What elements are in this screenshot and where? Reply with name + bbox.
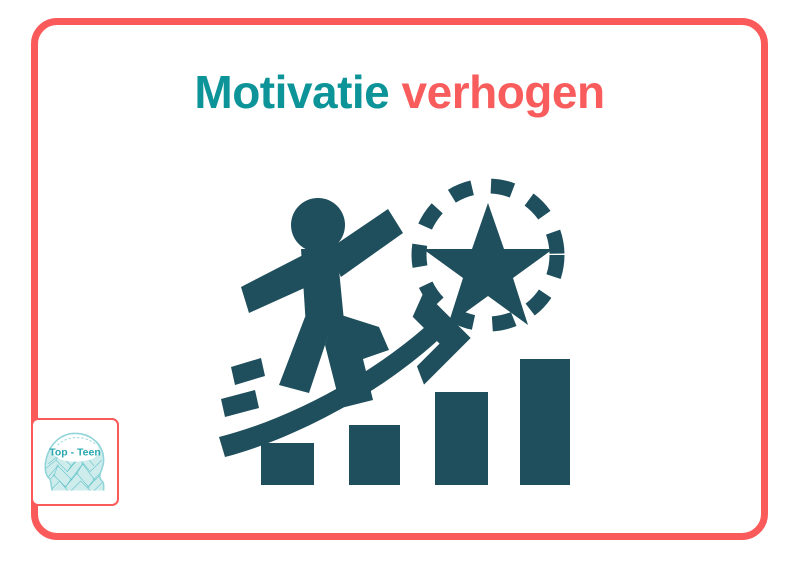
speed-lines-icon bbox=[221, 358, 265, 417]
bar-2 bbox=[349, 425, 400, 485]
title-word-accent: verhogen bbox=[402, 66, 605, 118]
title-word-primary: Motivatie bbox=[194, 66, 389, 118]
motivation-growth-illustration bbox=[213, 145, 603, 505]
bar-1 bbox=[261, 443, 314, 485]
slide-card: Motivatie verhogen bbox=[31, 18, 768, 540]
logo-text: Top - Teen bbox=[49, 446, 101, 458]
bar-3 bbox=[435, 392, 488, 485]
brain-head-icon bbox=[33, 420, 117, 504]
bar-4 bbox=[520, 359, 570, 485]
top-teen-logo[interactable]: Top - Teen bbox=[31, 418, 119, 506]
page-title: Motivatie verhogen bbox=[38, 65, 761, 119]
